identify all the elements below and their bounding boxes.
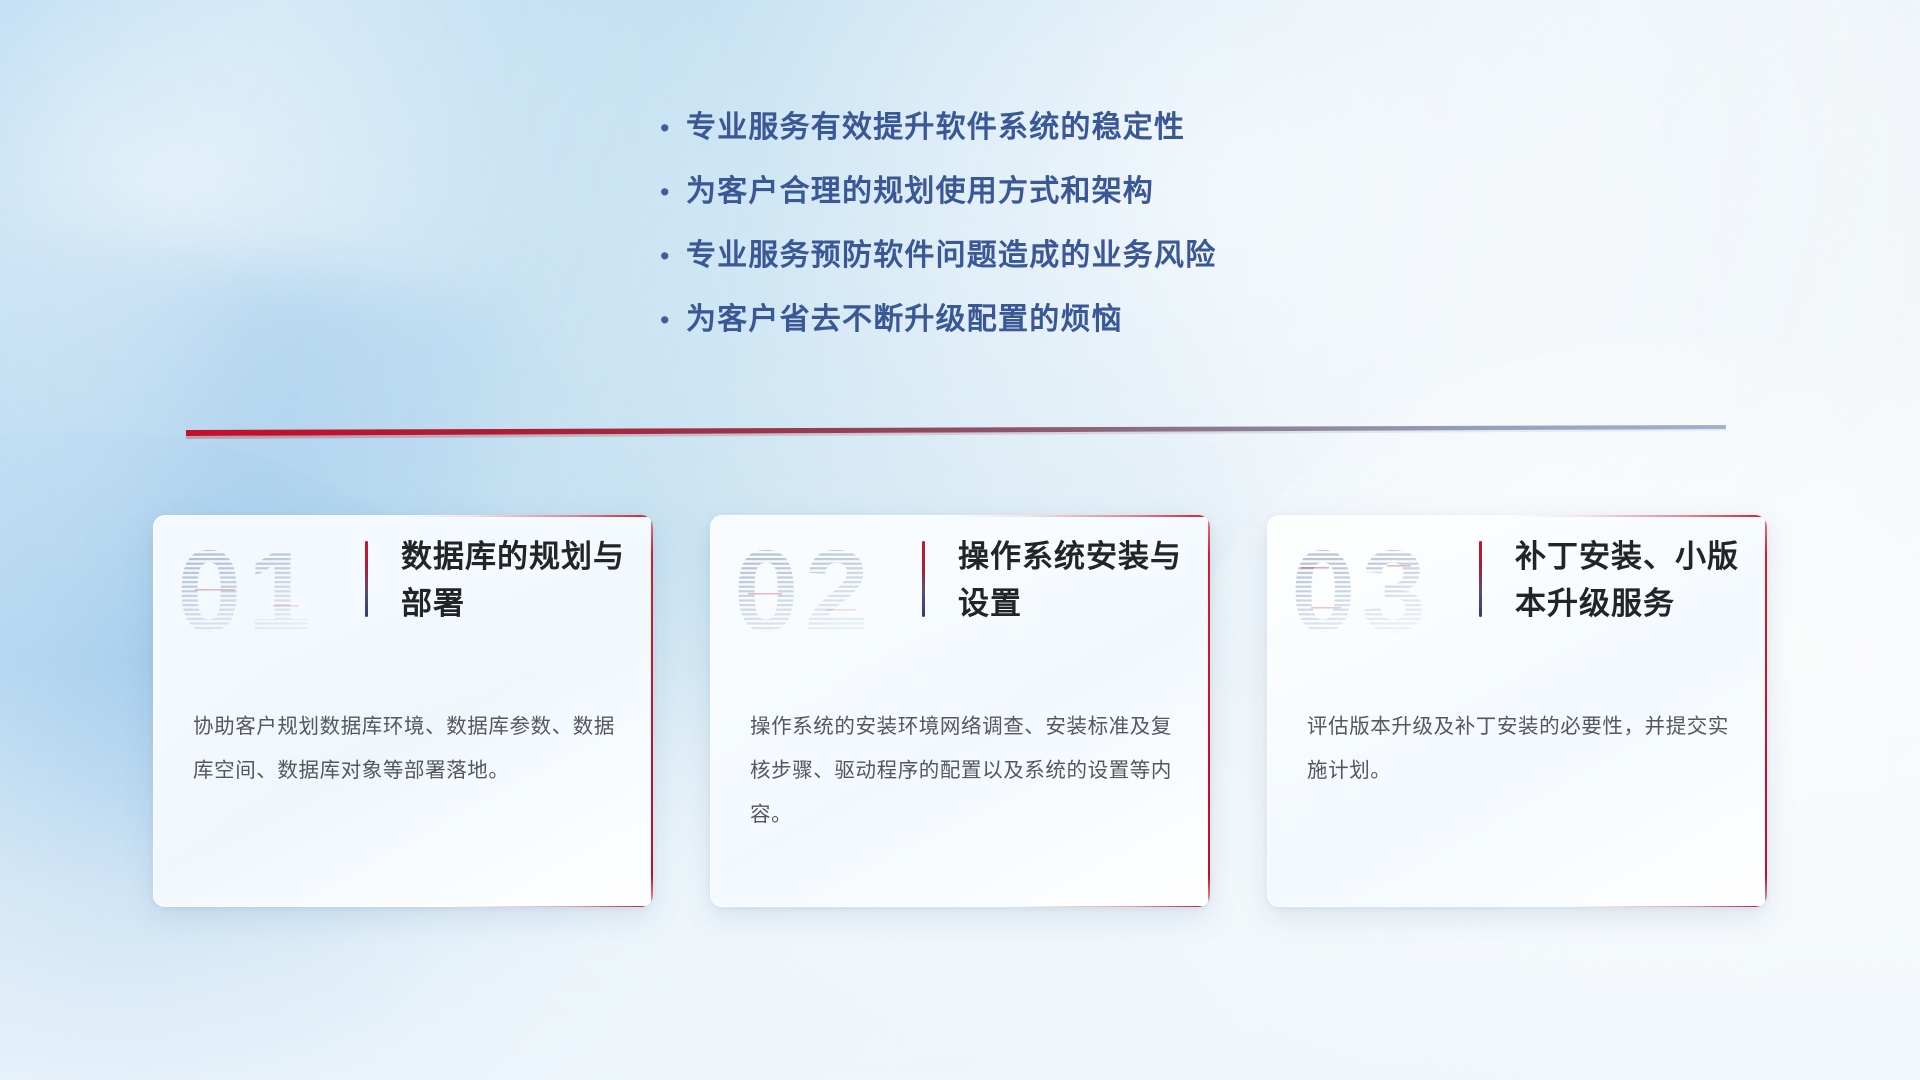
- card-header: 02 操作系统安装与设置: [710, 515, 1210, 695]
- service-card-row: 01 数据库的规划与部署 协助客户规划数据库环境、数据库参数、数据库空间、数据库…: [0, 515, 1920, 935]
- bullet-marker-icon: •: [660, 300, 686, 340]
- card-title-separator: [365, 541, 368, 617]
- card-number-watermark-02: 02: [734, 535, 912, 647]
- card-title-separator: [922, 541, 925, 617]
- number-stripes-graphic: 03: [1291, 535, 1469, 647]
- bullet-marker-icon: •: [660, 172, 686, 212]
- card-body-02: 操作系统的安装环境网络调查、安装标准及复核步骤、驱动程序的配置以及系统的设置等内…: [750, 705, 1176, 837]
- service-card-03[interactable]: 03 补丁安装、小版本升级服务 评估版本升级及补丁安装的必要性，并提交实施计划。: [1267, 515, 1767, 907]
- card-red-accent-bottom: [1567, 906, 1767, 908]
- divider-graphic: [186, 424, 1726, 442]
- service-card-01[interactable]: 01 数据库的规划与部署 协助客户规划数据库环境、数据库参数、数据库空间、数据库…: [153, 515, 653, 907]
- bullet-text-1: 专业服务有效提升软件系统的稳定性: [686, 108, 1185, 148]
- card-number-watermark-03: 03: [1291, 535, 1469, 647]
- bullet-marker-icon: •: [660, 236, 686, 276]
- card-red-accent-bottom: [1010, 906, 1210, 908]
- list-item: • 为客户合理的规划使用方式和架构: [660, 172, 1216, 236]
- list-item: • 专业服务有效提升软件系统的稳定性: [660, 108, 1216, 172]
- card-body-01: 协助客户规划数据库环境、数据库参数、数据库空间、数据库对象等部署落地。: [193, 705, 619, 793]
- svg-text:02: 02: [734, 535, 875, 647]
- card-body-03: 评估版本升级及补丁安装的必要性，并提交实施计划。: [1307, 705, 1733, 793]
- card-red-accent-bottom: [453, 906, 653, 908]
- card-title-separator: [1479, 541, 1482, 617]
- card-header: 01 数据库的规划与部署: [153, 515, 653, 695]
- number-stripes-graphic: 02: [734, 535, 912, 647]
- list-item: • 专业服务预防软件问题造成的业务风险: [660, 236, 1216, 300]
- bullet-text-3: 专业服务预防软件问题造成的业务风险: [686, 236, 1216, 276]
- card-title-03: 补丁安装、小版本升级服务: [1515, 533, 1749, 627]
- number-stripes-graphic: 01: [177, 535, 355, 647]
- svg-text:03: 03: [1291, 535, 1432, 647]
- list-item: • 为客户省去不断升级配置的烦恼: [660, 300, 1216, 364]
- svg-text:01: 01: [177, 535, 318, 647]
- benefits-bullet-list: • 专业服务有效提升软件系统的稳定性 • 为客户合理的规划使用方式和架构 • 专…: [660, 108, 1216, 364]
- card-title-01: 数据库的规划与部署: [401, 533, 635, 627]
- service-card-02[interactable]: 02 操作系统安装与设置 操作系统的安装环境网络调查、安装标准及复核步骤、驱动程…: [710, 515, 1210, 907]
- card-title-02: 操作系统安装与设置: [958, 533, 1192, 627]
- card-header: 03 补丁安装、小版本升级服务: [1267, 515, 1767, 695]
- section-divider: [186, 424, 1726, 442]
- bullet-text-2: 为客户合理的规划使用方式和架构: [686, 172, 1154, 212]
- bullet-marker-icon: •: [660, 108, 686, 148]
- card-number-watermark-01: 01: [177, 535, 355, 647]
- bullet-text-4: 为客户省去不断升级配置的烦恼: [686, 300, 1123, 340]
